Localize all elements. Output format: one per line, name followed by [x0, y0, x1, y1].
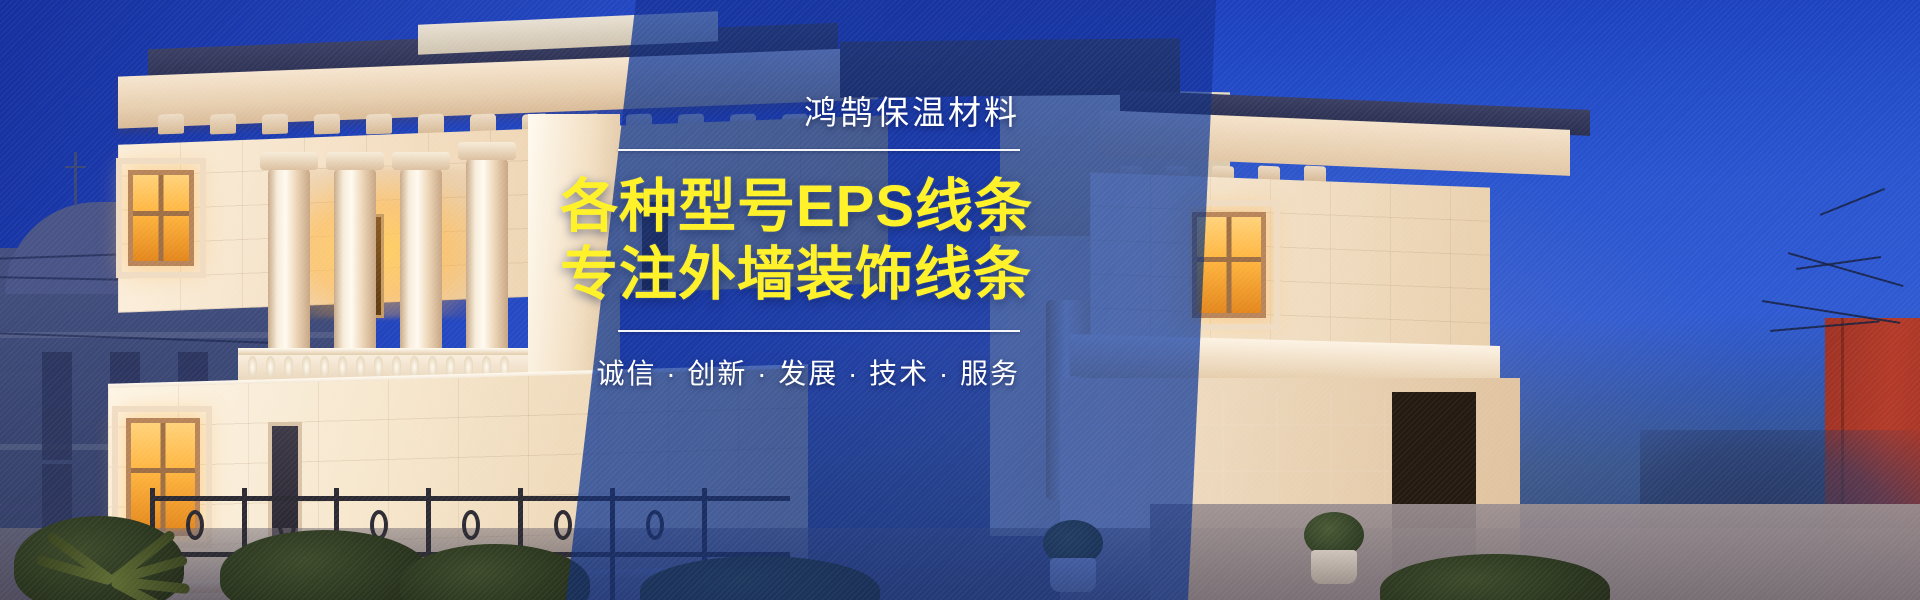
portico-column [400, 168, 442, 354]
cornice-corbel [366, 114, 392, 135]
headline: 各种型号EPS线条 专注外墙装饰线条 [560, 173, 1020, 308]
promo-banner: 鸿鹄保温材料 各种型号EPS线条 专注外墙装饰线条 诚信 · 创新 · 发展 ·… [0, 0, 1920, 600]
divider-rule-top [618, 149, 1020, 151]
balustrade-rail [238, 348, 528, 355]
brand-name: 鸿鹄保温材料 [560, 92, 1020, 133]
headline-line-1: 各种型号EPS线条 [560, 174, 1033, 239]
banner-text-block: 鸿鹄保温材料 各种型号EPS线条 专注外墙装饰线条 诚信 · 创新 · 发展 ·… [560, 92, 1020, 392]
cornice-corbel [158, 114, 184, 135]
cornice-corbel [262, 114, 288, 135]
cornice-corbel [418, 114, 444, 135]
cornice-corbel [314, 114, 340, 135]
divider-rule-bottom [618, 330, 1020, 332]
portico-column [466, 158, 508, 370]
distant-building-mast [74, 152, 77, 204]
portico-column [334, 168, 376, 354]
cornice-corbel [210, 114, 236, 135]
tagline: 诚信 · 创新 · 发展 · 技术 · 服务 [560, 352, 1020, 392]
distant-window [42, 352, 72, 460]
headline-line-2: 专注外墙装饰线条 [560, 241, 1020, 308]
portico-column [268, 168, 310, 354]
palm-plant [42, 490, 192, 600]
window-frame [116, 158, 206, 278]
potted-plant-pot [1311, 550, 1357, 584]
